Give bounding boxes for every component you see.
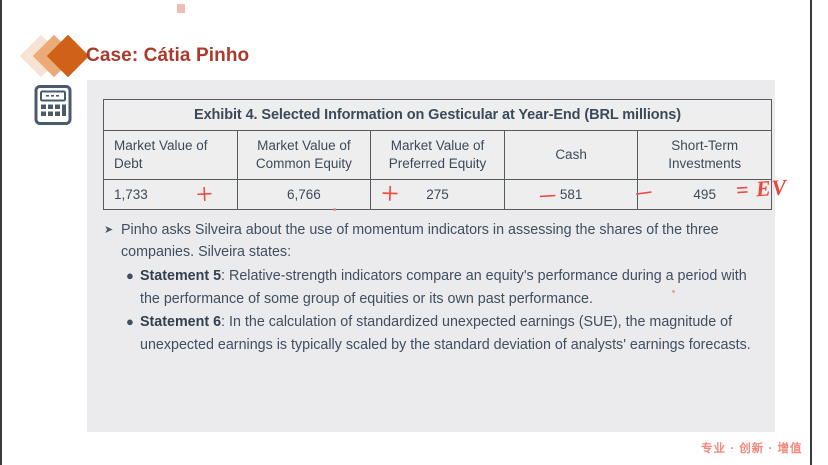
column-header-line2: Investments xyxy=(668,156,741,171)
list-item-statement-6: ● Statement 6: In the calculation of sta… xyxy=(127,311,770,356)
column-header-short-term-investments: Short-Term Investments xyxy=(638,131,772,180)
arrow-bullet-icon: ➤ xyxy=(104,219,113,241)
cell-short-term-investments: 495 xyxy=(638,180,772,210)
exhibit-table: Exhibit 4. Selected Information on Gesti… xyxy=(103,99,772,210)
cell-market-value-of-preferred-equity: 275 xyxy=(371,180,505,210)
dot-bullet-icon: ● xyxy=(126,265,134,288)
statement-5-text: Relative-strength indicators compare an … xyxy=(140,268,747,307)
lead-bullet-item: ➤ Pinho asks Silveira about the use of m… xyxy=(104,219,770,263)
column-header-line2: Common Equity xyxy=(256,156,352,171)
statement-6-label: Statement 6 xyxy=(140,314,221,330)
cell-market-value-of-debt: 1,733 xyxy=(104,180,238,210)
statement-6-text: In the calculation of standardized unexp… xyxy=(140,314,751,353)
exhibit-caption: Exhibit 4. Selected Information on Gesti… xyxy=(104,100,772,131)
column-header-market-value-of-preferred-equity: Market Value of Preferred Equity xyxy=(371,131,505,180)
cell-cash: 581 xyxy=(504,180,638,210)
column-header-line1: Market Value of xyxy=(391,138,485,153)
table-caption-row: Exhibit 4. Selected Information on Gesti… xyxy=(104,100,772,131)
column-header-market-value-of-common-equity: Market Value of Common Equity xyxy=(237,131,371,180)
dot-bullet-icon: ● xyxy=(126,311,134,334)
column-header-line1: Market Value of xyxy=(114,138,208,153)
calculator-icon xyxy=(32,85,74,125)
table-row: 1,733 6,766 275 581 495 xyxy=(104,180,772,210)
stray-ink-mark-top xyxy=(177,4,185,13)
body-content: ➤ Pinho asks Silveira about the use of m… xyxy=(104,219,770,356)
column-header-market-value-of-debt: Market Value of Debt xyxy=(104,131,238,180)
column-header-line1: Short-Term xyxy=(671,138,738,153)
statement-5-label: Statement 5 xyxy=(140,268,221,284)
statement-6-separator: : xyxy=(221,314,229,330)
slide-left-border xyxy=(0,0,2,465)
slide-outer-margin xyxy=(812,0,828,465)
column-header-line1: Market Value of xyxy=(257,138,351,153)
column-header-line2: Preferred Equity xyxy=(389,156,487,171)
list-item-statement-5: ● Statement 5: Relative-strength indicat… xyxy=(127,265,770,310)
statement-5-separator: : xyxy=(221,268,229,284)
table-header-row: Market Value of Debt Market Value of Com… xyxy=(104,131,772,180)
diamonds-logo xyxy=(26,33,88,79)
column-header-line2: Debt xyxy=(114,156,143,171)
statement-list: ● Statement 5: Relative-strength indicat… xyxy=(104,265,770,356)
lead-bullet-text: Pinho asks Silveira about the use of mom… xyxy=(121,222,719,260)
column-header-cash: Cash xyxy=(504,131,638,180)
slide-canvas: Case: Cátia Pinho Exhibit 4. Selected In… xyxy=(0,0,828,465)
footer-tagline: 专业 · 创新 · 增值 xyxy=(701,440,802,456)
page-title: Case: Cátia Pinho xyxy=(86,45,249,67)
column-header-line1: Cash xyxy=(555,147,587,162)
cell-market-value-of-common-equity: 6,766 xyxy=(237,180,371,210)
stray-ink-dot-1 xyxy=(333,208,336,211)
